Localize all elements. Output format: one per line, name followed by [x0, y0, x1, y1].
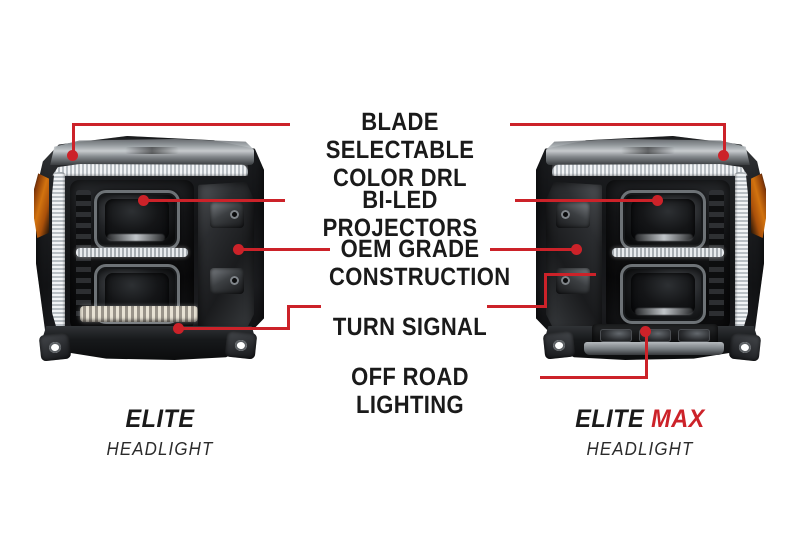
leader-line-bi-led-left	[143, 199, 285, 202]
product-subtitle-elite: HEADLIGHT	[66, 439, 254, 460]
drl-light-blade-top	[552, 164, 748, 176]
leader-line-turn-left-h2	[287, 305, 321, 308]
leader-line-offroad-h	[540, 376, 648, 379]
marker-dot-blade-drl-left	[67, 150, 78, 161]
product-subtitle-elite-max: HEADLIGHT	[537, 439, 744, 460]
leader-line-turn-right-h1	[487, 305, 547, 308]
product-caption-elite: ELITE HEADLIGHT	[60, 405, 260, 460]
drl-light-blade-top	[52, 164, 248, 176]
leader-line-turn-left-h1	[178, 327, 290, 330]
leader-line-bi-led-right	[515, 199, 657, 202]
mounting-tab-right	[225, 331, 258, 360]
off-road-lens	[584, 342, 724, 355]
mounting-tab-left	[39, 333, 72, 362]
product-name-elite-max: ELITE MAX	[537, 405, 744, 434]
mid-light-blade	[612, 248, 724, 257]
bracket-clip-lower	[556, 268, 590, 294]
mid-light-blade	[76, 248, 188, 257]
leader-line-oem-right	[490, 248, 576, 251]
off-road-pod	[600, 329, 632, 342]
amber-side-marker	[751, 172, 766, 238]
product-feature-diagram: BLADE SELECTABLE COLOR DRL BI-LED PROJEC…	[0, 0, 800, 533]
bracket-clip-upper	[556, 202, 590, 228]
mounting-tab-right	[543, 331, 576, 360]
leader-line-turn-right-v	[544, 273, 547, 308]
bi-led-projector-lower	[620, 264, 706, 324]
product-caption-elite-max: ELITE MAX HEADLIGHT	[530, 405, 750, 460]
leader-line-blade-drl-left-h	[72, 123, 290, 126]
bracket-clip-lower	[210, 268, 244, 294]
marker-dot-turn-left	[173, 323, 184, 334]
lower-housing	[42, 326, 256, 360]
callout-label-blade-drl: BLADE SELECTABLE COLOR DRL	[303, 108, 497, 192]
callout-label-off-road: OFF ROAD LIGHTING	[300, 363, 520, 419]
product-name-elite: ELITE	[66, 405, 254, 434]
marker-dot-bi-led-right	[652, 195, 663, 206]
leader-line-blade-drl-right-h	[510, 123, 726, 126]
off-road-pod	[678, 329, 710, 342]
leader-line-turn-left-v	[287, 305, 290, 330]
callout-label-oem-grade: OEM GRADE CONSTRUCTION	[329, 235, 491, 291]
drl-light-blade-side	[735, 172, 748, 332]
drl-light-blade-side	[52, 172, 65, 332]
marker-dot-oem-right	[571, 244, 582, 255]
leader-line-offroad-v	[645, 330, 648, 379]
leader-line-turn-right-h2	[544, 273, 596, 276]
bracket-clip-upper	[210, 202, 244, 228]
turn-signal-strip	[80, 306, 198, 322]
amber-side-marker	[34, 172, 49, 238]
marker-dot-oem-left	[233, 244, 244, 255]
callout-label-bi-led: BI-LED PROJECTORS	[296, 186, 504, 242]
mounting-tab-left	[729, 333, 762, 362]
callout-label-turn-signal: TURN SIGNAL	[329, 313, 491, 341]
leader-line-oem-left	[238, 248, 330, 251]
marker-dot-blade-drl-right	[718, 150, 729, 161]
marker-dot-offroad	[640, 326, 651, 337]
marker-dot-bi-led-left	[138, 195, 149, 206]
